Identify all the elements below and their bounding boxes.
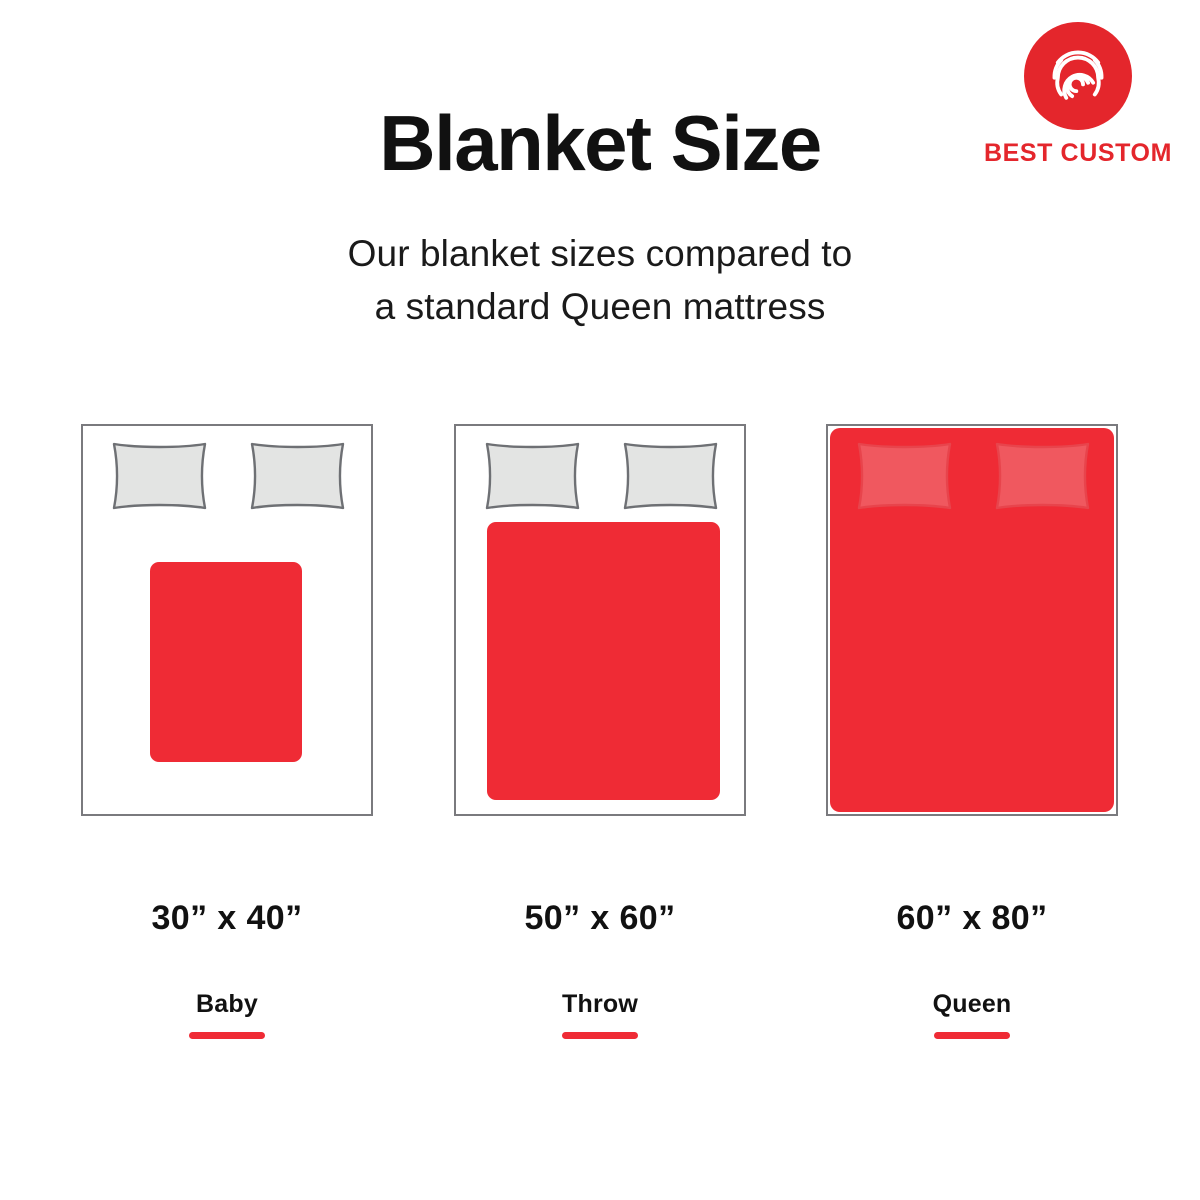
pillow-icon	[109, 440, 210, 512]
pillow-icon	[620, 440, 721, 512]
bed-caption-queen: 60” x 80” Queen	[826, 900, 1118, 1039]
bed-caption-baby: 30” x 40” Baby	[81, 900, 373, 1039]
bed-dimensions: 50” x 60”	[454, 900, 746, 937]
page-title: Blanket Size	[0, 103, 1200, 185]
accent-underline	[562, 1032, 638, 1039]
bed-diagram-baby	[81, 424, 373, 816]
bed-diagrams	[0, 424, 1200, 816]
accent-underline	[934, 1032, 1010, 1039]
pillow-icon	[482, 440, 583, 512]
accent-underline	[189, 1032, 265, 1039]
subtitle-line-1: Our blanket sizes compared to	[0, 228, 1200, 281]
bed-dimensions: 60” x 80”	[826, 900, 1118, 937]
bed-diagram-throw	[454, 424, 746, 816]
pillow-icon	[247, 440, 348, 512]
blanket-swatch-throw	[487, 522, 720, 800]
blanket-swatch-baby	[150, 562, 302, 762]
bed-size-name: Queen	[826, 991, 1118, 1019]
page-subtitle: Our blanket sizes compared to a standard…	[0, 228, 1200, 333]
pillow-icon	[992, 440, 1093, 512]
bed-diagram-queen	[826, 424, 1118, 816]
bed-size-name: Baby	[81, 991, 373, 1019]
bed-size-name: Throw	[454, 991, 746, 1019]
blanket-size-infographic: BEST CUSTOM Blanket Size Our blanket siz…	[0, 0, 1200, 1200]
pillow-icon	[854, 440, 955, 512]
bed-caption-throw: 50” x 60” Throw	[454, 900, 746, 1039]
subtitle-line-2: a standard Queen mattress	[0, 281, 1200, 334]
bed-dimensions: 30” x 40”	[81, 900, 373, 937]
